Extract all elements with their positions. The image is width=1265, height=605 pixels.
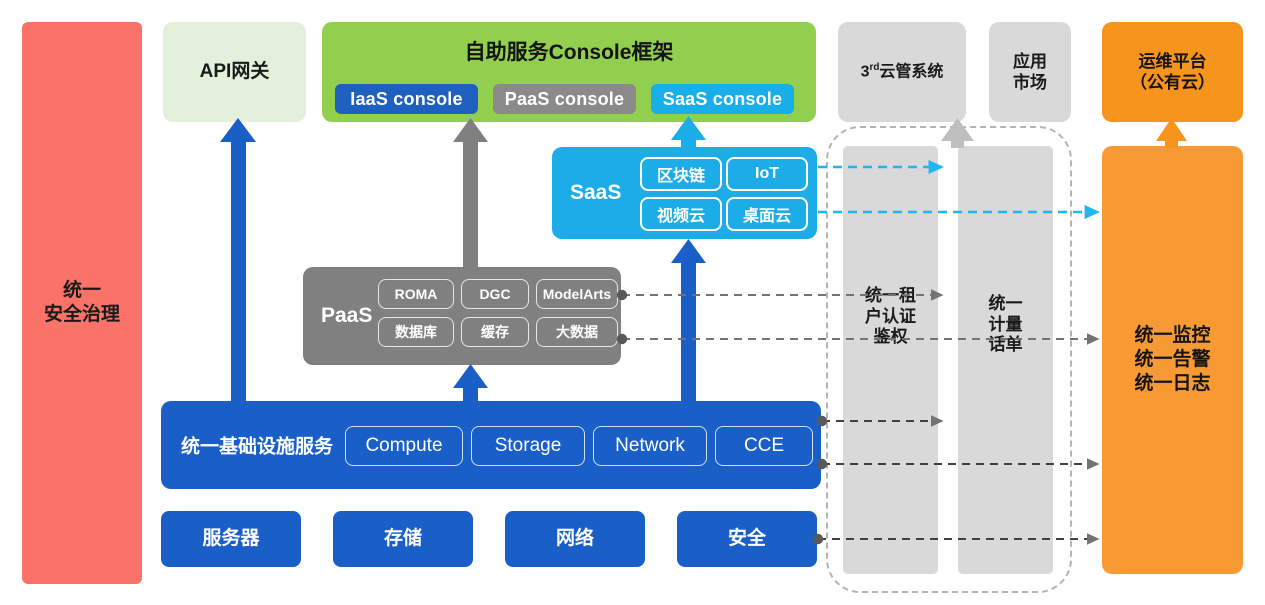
iaas-item-compute[interactable]: Compute: [345, 426, 463, 466]
unified-auth-line3: 鉴权: [843, 327, 938, 348]
third-party-suffix: 云管系统: [879, 63, 943, 80]
ops-column-line3: 统一日志: [1134, 372, 1210, 396]
unified-metering-line1: 统一: [958, 294, 1053, 315]
paas-item-database-label: 数据库: [395, 322, 437, 342]
paas-panel-label: PaaS: [321, 304, 372, 328]
hardware-tile-security[interactable]: 安全: [677, 511, 817, 567]
paas-item-database[interactable]: 数据库: [378, 317, 454, 347]
unified-infrastructure-band: 统一基础设施服务 Compute Storage Network CCE: [161, 401, 821, 489]
saas-item-desktop-cloud[interactable]: 桌面云: [726, 197, 808, 231]
saas-item-video-cloud-label: 视频云: [657, 202, 705, 226]
saas-panel: SaaS 区块链 IoT 视频云 桌面云: [552, 147, 817, 239]
ops-column-line2: 统一告警: [1134, 348, 1210, 372]
hardware-tile-security-label: 安全: [728, 527, 766, 551]
saas-item-blockchain[interactable]: 区块链: [640, 157, 722, 191]
console-framework-panel: 自助服务Console框架 IaaS console PaaS console …: [322, 22, 816, 122]
paas-item-bigdata-label: 大数据: [556, 322, 598, 342]
arrow-ops-column-to-ops-platform: [1156, 118, 1187, 148]
paas-item-bigdata[interactable]: 大数据: [536, 317, 618, 347]
hardware-tile-network-label: 网络: [556, 527, 594, 551]
security-governance-line2: 安全治理: [44, 303, 120, 327]
iaas-item-network-label: Network: [615, 435, 685, 457]
hardware-tile-server[interactable]: 服务器: [161, 511, 301, 567]
paas-panel: PaaS ROMA DGC ModelArts 数据库 缓存 大数据: [303, 267, 621, 365]
unified-monitoring-column: 统一监控 统一告警 统一日志: [1102, 146, 1243, 574]
hardware-tile-storage[interactable]: 存储: [333, 511, 473, 567]
api-gateway-label: API网关: [200, 60, 270, 84]
paas-item-modelarts-label: ModelArts: [543, 286, 611, 302]
architecture-diagram: 统一 安全治理 API网关 自助服务Console框架 IaaS console…: [0, 0, 1265, 605]
arrow-iaas-to-paas: [453, 364, 488, 401]
iaas-item-storage-label: Storage: [495, 435, 562, 457]
app-market-line1: 应用: [1013, 51, 1047, 72]
iaas-console-chip[interactable]: IaaS console: [335, 84, 478, 114]
hardware-tile-storage-label: 存储: [384, 527, 422, 551]
unified-metering-line2: 计量: [958, 315, 1053, 336]
third-party-cloud-mgmt-label: 3rd云管系统: [861, 62, 944, 82]
iaas-console-label: IaaS console: [350, 89, 462, 110]
paas-console-chip[interactable]: PaaS console: [493, 84, 636, 114]
unified-metering-line3: 话单: [958, 335, 1053, 356]
security-governance-line1: 统一: [63, 279, 101, 303]
saas-item-iot[interactable]: IoT: [726, 157, 808, 191]
paas-item-roma-label: ROMA: [395, 286, 438, 302]
saas-item-desktop-cloud-label: 桌面云: [743, 202, 791, 226]
saas-item-blockchain-label: 区块链: [657, 162, 705, 186]
paas-item-modelarts[interactable]: ModelArts: [536, 279, 618, 309]
iaas-item-cce[interactable]: CCE: [715, 426, 813, 466]
unified-metering-band[interactable]: 统一 计量 话单: [958, 146, 1053, 574]
paas-item-roma[interactable]: ROMA: [378, 279, 454, 309]
ops-platform-line2: （公有云）: [1130, 72, 1215, 93]
unified-infrastructure-label: 统一基础设施服务: [181, 432, 333, 459]
unified-auth-line1: 统一租: [843, 286, 938, 307]
saas-item-video-cloud[interactable]: 视频云: [640, 197, 722, 231]
arrow-paas-to-console: [453, 118, 488, 267]
hardware-tile-server-label: 服务器: [202, 527, 259, 551]
paas-console-label: PaaS console: [505, 89, 624, 110]
iaas-item-compute-label: Compute: [365, 435, 442, 457]
paas-item-dgc[interactable]: DGC: [461, 279, 529, 309]
arrow-iaas-to-saas: [671, 239, 706, 401]
app-market-line2: 市场: [1013, 72, 1047, 93]
third-party-ordinal-sup: rd: [869, 62, 879, 73]
unified-auth-line2: 户认证: [843, 307, 938, 328]
saas-console-label: SaaS console: [663, 89, 782, 110]
saas-panel-label: SaaS: [570, 181, 621, 205]
iaas-item-network[interactable]: Network: [593, 426, 707, 466]
security-governance-column: 统一 安全治理: [22, 22, 142, 584]
api-gateway-box[interactable]: API网关: [163, 22, 306, 122]
iaas-item-storage[interactable]: Storage: [471, 426, 585, 466]
ops-platform-public-cloud-box[interactable]: 运维平台 （公有云）: [1102, 22, 1243, 122]
saas-item-iot-label: IoT: [755, 165, 779, 183]
unified-auth-band[interactable]: 统一租 户认证 鉴权: [843, 146, 938, 574]
third-party-cloud-mgmt-box[interactable]: 3rd云管系统: [838, 22, 966, 122]
iaas-item-cce-label: CCE: [744, 435, 784, 457]
unified-auth-label: 统一租 户认证 鉴权: [843, 286, 938, 348]
arrow-iaas-to-api-gateway: [220, 118, 256, 401]
saas-console-chip[interactable]: SaaS console: [651, 84, 794, 114]
paas-item-cache[interactable]: 缓存: [461, 317, 529, 347]
unified-metering-label: 统一 计量 话单: [958, 294, 1053, 356]
console-framework-title: 自助服务Console框架: [322, 36, 816, 66]
ops-platform-line1: 运维平台: [1139, 51, 1207, 72]
ops-column-line1: 统一监控: [1134, 324, 1210, 348]
paas-item-dgc-label: DGC: [479, 286, 510, 302]
app-market-box[interactable]: 应用 市场: [989, 22, 1071, 122]
hardware-tile-network[interactable]: 网络: [505, 511, 645, 567]
paas-item-cache-label: 缓存: [481, 322, 509, 342]
